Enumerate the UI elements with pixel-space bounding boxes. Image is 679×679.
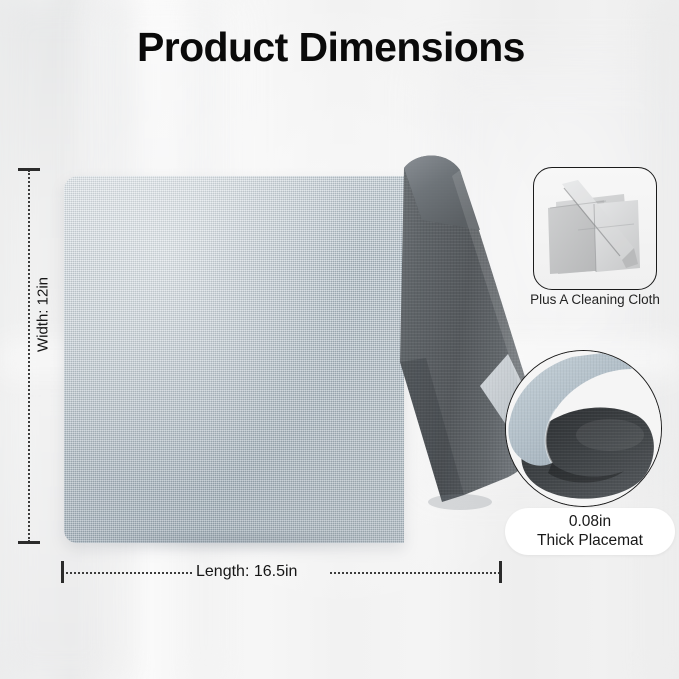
thickness-label-pill: 0.08in Thick Placemat xyxy=(505,508,675,555)
folded-cloth-icon xyxy=(534,168,656,289)
width-tick-top xyxy=(18,168,40,171)
page-title: Product Dimensions xyxy=(137,24,525,71)
thickness-name: Thick Placemat xyxy=(537,532,643,550)
cleaning-cloth-caption: Plus A Cleaning Cloth xyxy=(510,292,679,307)
length-dimension-line-right xyxy=(330,572,500,574)
length-dimension-line-left xyxy=(62,572,192,574)
placemat-top-surface xyxy=(64,176,404,543)
width-dimension-line xyxy=(28,170,30,542)
placemat-edge-curl-icon xyxy=(506,351,661,506)
product-dimensions-infographic: Product Dimensions xyxy=(0,0,679,679)
length-dimension-label: Length: 16.5in xyxy=(196,563,297,581)
placemat-drop-shadow xyxy=(70,535,408,551)
placemat-sheen xyxy=(64,176,404,543)
width-tick-bottom xyxy=(18,541,40,544)
thickness-callout-circle xyxy=(505,350,662,507)
cleaning-cloth-callout-box xyxy=(533,167,657,290)
width-dimension-label: Width: 12in xyxy=(35,260,52,370)
length-tick-right xyxy=(499,561,502,583)
thickness-value: 0.08in xyxy=(569,513,611,531)
length-tick-left xyxy=(61,561,64,583)
